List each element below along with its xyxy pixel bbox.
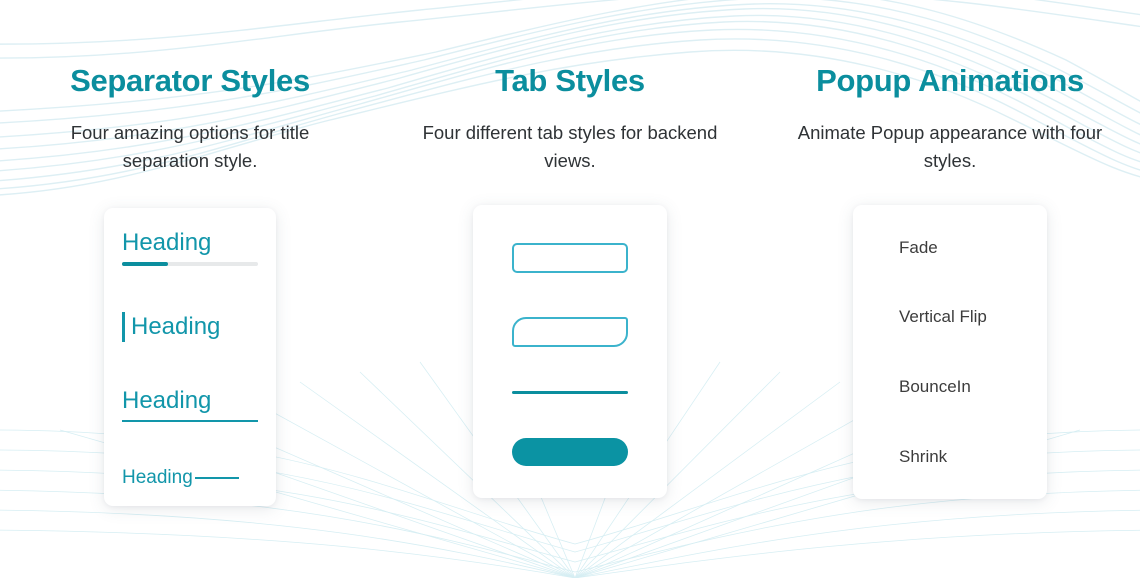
page-title-separator-styles: Separator Styles [70,62,310,99]
separator-label-2: Heading [131,314,220,339]
list-item-vertical-flip[interactable]: Vertical Flip [899,308,1047,325]
separator-sample-inline-line[interactable]: Heading [122,468,258,488]
separator-rule-full [122,420,258,422]
description-tab-styles: Four different tab styles for backend vi… [405,119,735,175]
description-popup-animations: Animate Popup appearance with four style… [785,119,1115,175]
separator-sample-split-rule[interactable]: Heading [122,230,258,266]
popup-animations-card: Fade Vertical Flip BounceIn Shrink [853,205,1047,499]
tab-sample-outline-leaf[interactable] [512,317,628,347]
description-separator-styles: Four amazing options for title separatio… [25,119,355,175]
separator-sample-left-bar[interactable]: Heading [122,312,258,342]
separator-vertical-bar [122,312,125,342]
column-separator-styles: Separator Styles Four amazing options fo… [0,62,380,578]
separator-label-3: Heading [122,388,258,413]
separator-styles-card: Heading Heading Heading Heading [104,208,276,506]
separator-trailing-line [195,477,239,479]
separator-label-4: Heading [122,468,193,488]
list-item-bouncein[interactable]: BounceIn [899,378,1047,395]
tab-sample-underline[interactable] [512,391,628,394]
feature-columns: Separator Styles Four amazing options fo… [0,0,1140,578]
tab-sample-outline-rectangle[interactable] [512,243,628,273]
list-item-shrink[interactable]: Shrink [899,448,1047,465]
column-popup-animations: Popup Animations Animate Popup appearanc… [760,62,1140,578]
list-item-fade[interactable]: Fade [899,239,1047,256]
page-title-popup-animations: Popup Animations [816,62,1084,99]
column-tab-styles: Tab Styles Four different tab styles for… [380,62,760,578]
separator-sample-full-underline[interactable]: Heading [122,388,258,422]
page-title-tab-styles: Tab Styles [495,62,645,99]
tab-styles-card [473,205,667,498]
separator-label-1: Heading [122,230,258,255]
tab-sample-filled-pill[interactable] [512,438,628,466]
separator-rule-split [122,262,258,266]
